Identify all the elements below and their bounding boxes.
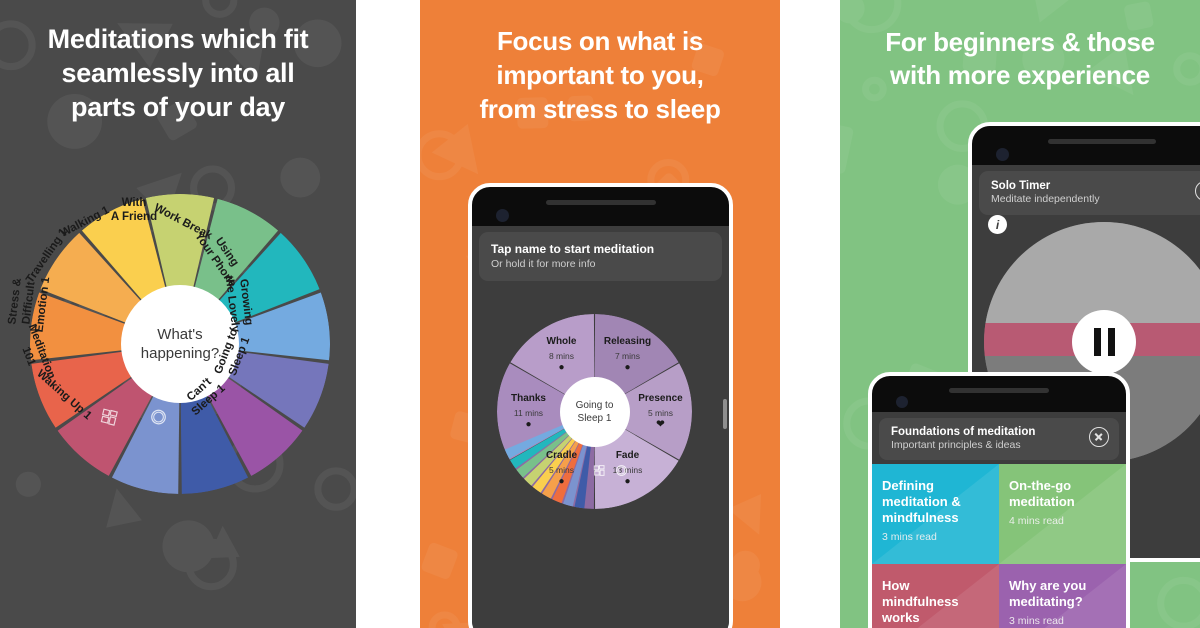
meditation-header-title: Tap name to start meditation <box>491 242 710 256</box>
found-phone-speaker <box>949 388 1049 393</box>
foundations-header-title: Foundations of meditation <box>891 426 1107 438</box>
phone-meditation-screen: Tap name to start meditation Or hold it … <box>472 226 729 628</box>
circle-icon[interactable] <box>615 464 628 482</box>
timer-header-sub: Meditate independently <box>991 193 1200 205</box>
panel-1-headline: Meditations which fitseamlessly into all… <box>0 22 356 124</box>
meditation-sheet-header: Tap name to start meditation Or hold it … <box>479 232 722 281</box>
panel-3-headline: For beginners & thosewith more experienc… <box>840 26 1200 92</box>
card-read-time: 4 mins read <box>1009 515 1116 527</box>
meditation-wheel-icons[interactable] <box>593 464 628 482</box>
timer-header-title: Solo Timer <box>991 180 1200 192</box>
foundations-card[interactable]: How mindfulnessworks 4 mins read <box>872 564 999 628</box>
timer-phone-camera <box>996 148 1009 161</box>
timer-phone-speaker <box>1048 139 1156 144</box>
hub-line-1: What's <box>141 325 219 344</box>
foundations-card-grid: Definingmeditation &mindfulness 3 mins r… <box>872 464 1126 628</box>
close-icon[interactable] <box>1089 427 1109 447</box>
meditation-wheel-hub[interactable]: Going to Sleep 1 <box>560 377 630 447</box>
timer-sheet-header: Solo Timer Meditate independently <box>979 171 1200 215</box>
phone-foundations: Foundations of meditation Important prin… <box>868 372 1130 628</box>
foundations-sheet-header: Foundations of meditation Important prin… <box>879 418 1119 460</box>
screenshot-stage: Meditations which fitseamlessly into all… <box>0 0 1200 628</box>
panel-2-headline: Focus on what isimportant to you,from st… <box>420 24 780 126</box>
scroll-indicator[interactable] <box>723 399 727 429</box>
card-read-time: 3 mins read <box>1009 615 1116 627</box>
foundations-card[interactable]: Why are youmeditating? 3 mins read <box>999 564 1126 628</box>
med-hub-line-1: Going to <box>576 399 614 412</box>
panel-beginners: For beginners & thosewith more experienc… <box>840 0 1200 628</box>
meditation-wheel[interactable]: Going to Sleep 1 Releasing7 mins●Presenc… <box>497 314 692 509</box>
panel-focus: Focus on what isimportant to you,from st… <box>420 0 780 628</box>
panel-meditations: Meditations which fitseamlessly into all… <box>0 0 356 628</box>
category-wheel-hub[interactable]: What's happening? <box>121 285 239 403</box>
found-phone-camera <box>896 396 908 408</box>
meditation-header-sub: Or hold it for more info <box>491 258 710 270</box>
grid-icon[interactable] <box>593 464 606 482</box>
hub-line-2: happening? <box>141 344 219 363</box>
phone-speaker <box>546 200 656 205</box>
pause-icon[interactable] <box>1072 310 1136 374</box>
foundations-card[interactable]: Definingmeditation &mindfulness 3 mins r… <box>872 464 999 564</box>
foundations-header-sub: Important principles & ideas <box>891 439 1107 451</box>
foundations-card[interactable]: On-the-gomeditation 4 mins read <box>999 464 1126 564</box>
card-read-time: 3 mins read <box>882 531 989 543</box>
timer-ring-top <box>984 222 1200 323</box>
phone-meditation: Tap name to start meditation Or hold it … <box>468 183 733 628</box>
phone-camera <box>496 209 509 222</box>
category-wheel[interactable]: What's happening? WithA FriendWork Break… <box>30 194 330 494</box>
med-hub-line-2: Sleep 1 <box>576 412 614 425</box>
foundations-screen: Foundations of meditation Important prin… <box>872 412 1126 628</box>
